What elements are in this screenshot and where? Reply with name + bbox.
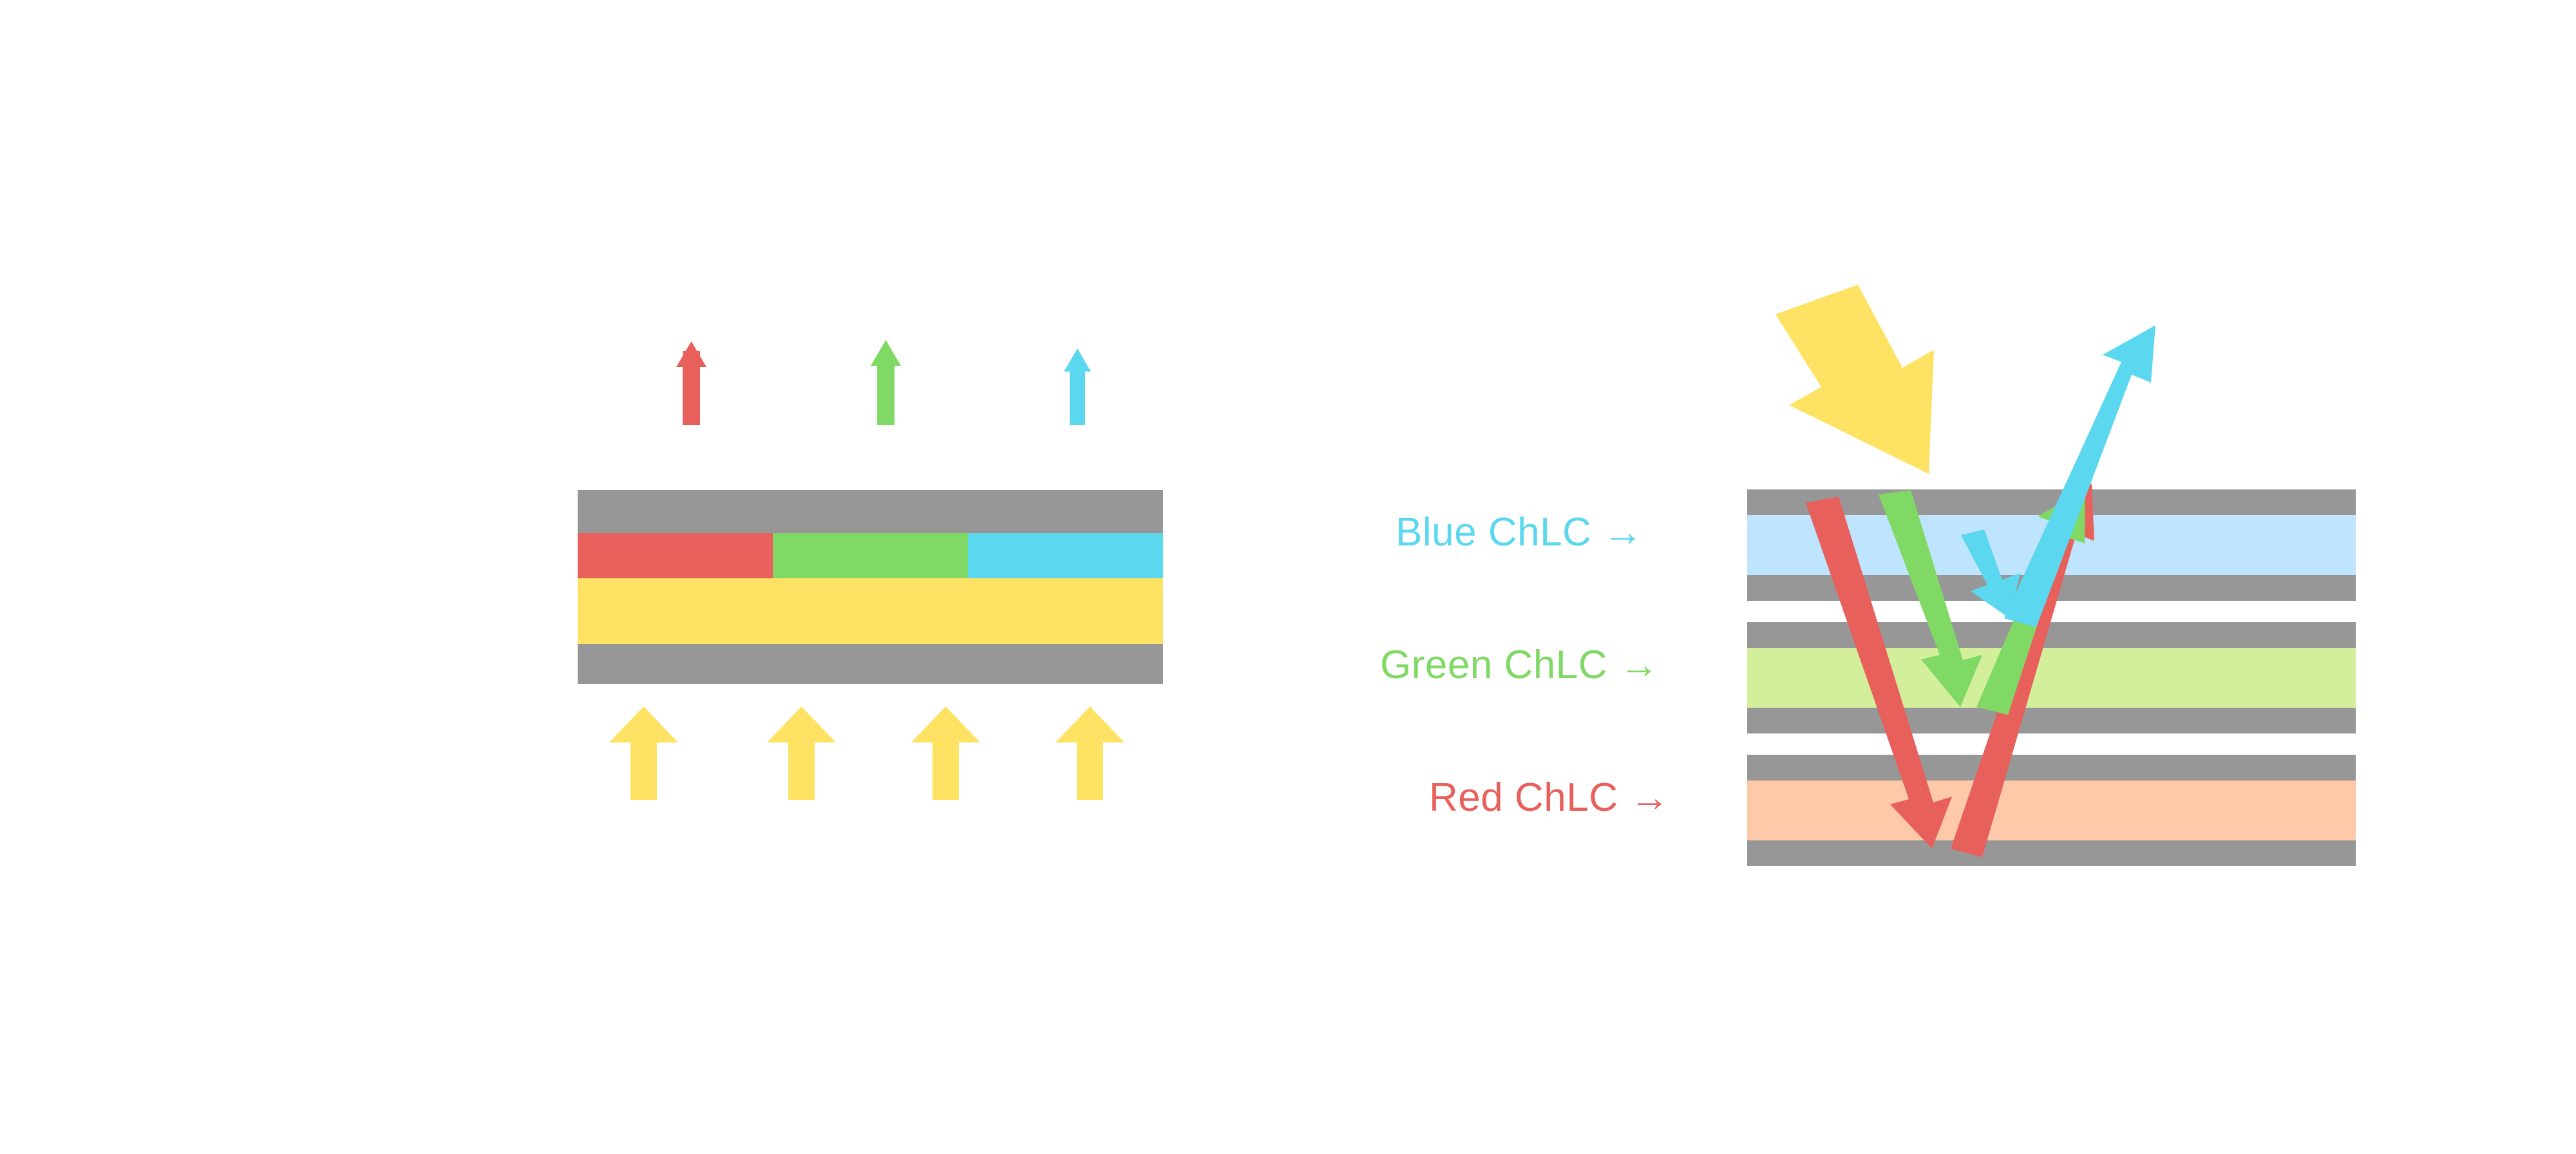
reflective-chlc-svg — [1288, 0, 2576, 1154]
green-chlc-label-text: Green ChLC — [1380, 643, 1607, 687]
green-chlc-label-arrow: → — [1607, 643, 1660, 687]
red-chlc-label-arrow: → — [1618, 775, 1670, 820]
red-chlc-label: Red ChLC→ — [1429, 778, 1670, 818]
incident-white-light-arrow — [1776, 285, 1934, 474]
green-filter-segment — [773, 533, 968, 578]
blue-chlc-label: Blue ChLC→ — [1396, 513, 1643, 553]
red-chlc-layer — [1747, 780, 2356, 840]
diagram-canvas: Blue ChLC→ Green ChLC→ Red ChLC→ — [0, 0, 2576, 1154]
red-filter-segment — [578, 533, 773, 578]
red-chlc-bottom-electrode — [1747, 840, 2356, 866]
red-emission-arrow — [676, 341, 706, 425]
blue-emission-arrow — [1064, 348, 1091, 425]
backlight-arrow-group — [609, 706, 1124, 800]
blue-chlc-label-arrow: → — [1591, 510, 1643, 554]
emissive-stack-svg — [0, 0, 1288, 1154]
backlight-arrow — [1056, 706, 1124, 800]
color-filter-layer — [578, 533, 1163, 578]
backlight-arrow — [767, 706, 836, 800]
bottom-gray-electrode — [578, 644, 1163, 684]
top-gray-electrode — [578, 490, 1163, 533]
reflective-chlc-stack-panel: Blue ChLC→ Green ChLC→ Red ChLC→ — [1288, 0, 2576, 1154]
red-chlc-label-text: Red ChLC — [1429, 775, 1618, 820]
backlight-arrow — [609, 706, 678, 800]
emissive-stack — [578, 490, 1163, 684]
blue-chlc-label-text: Blue ChLC — [1396, 510, 1591, 554]
green-chlc-bottom-electrode — [1747, 708, 2356, 733]
emissive-stack-panel — [0, 0, 1288, 1154]
green-emission-arrow — [871, 340, 901, 425]
blue-filter-segment — [968, 533, 1163, 578]
backlight-arrow — [911, 706, 980, 800]
green-chlc-label: Green ChLC→ — [1380, 645, 1660, 685]
red-chlc-top-electrode — [1747, 755, 2356, 780]
yellow-backlight-layer — [578, 578, 1163, 644]
green-chlc-layer — [1747, 648, 2356, 708]
green-chlc-top-electrode — [1747, 622, 2356, 648]
